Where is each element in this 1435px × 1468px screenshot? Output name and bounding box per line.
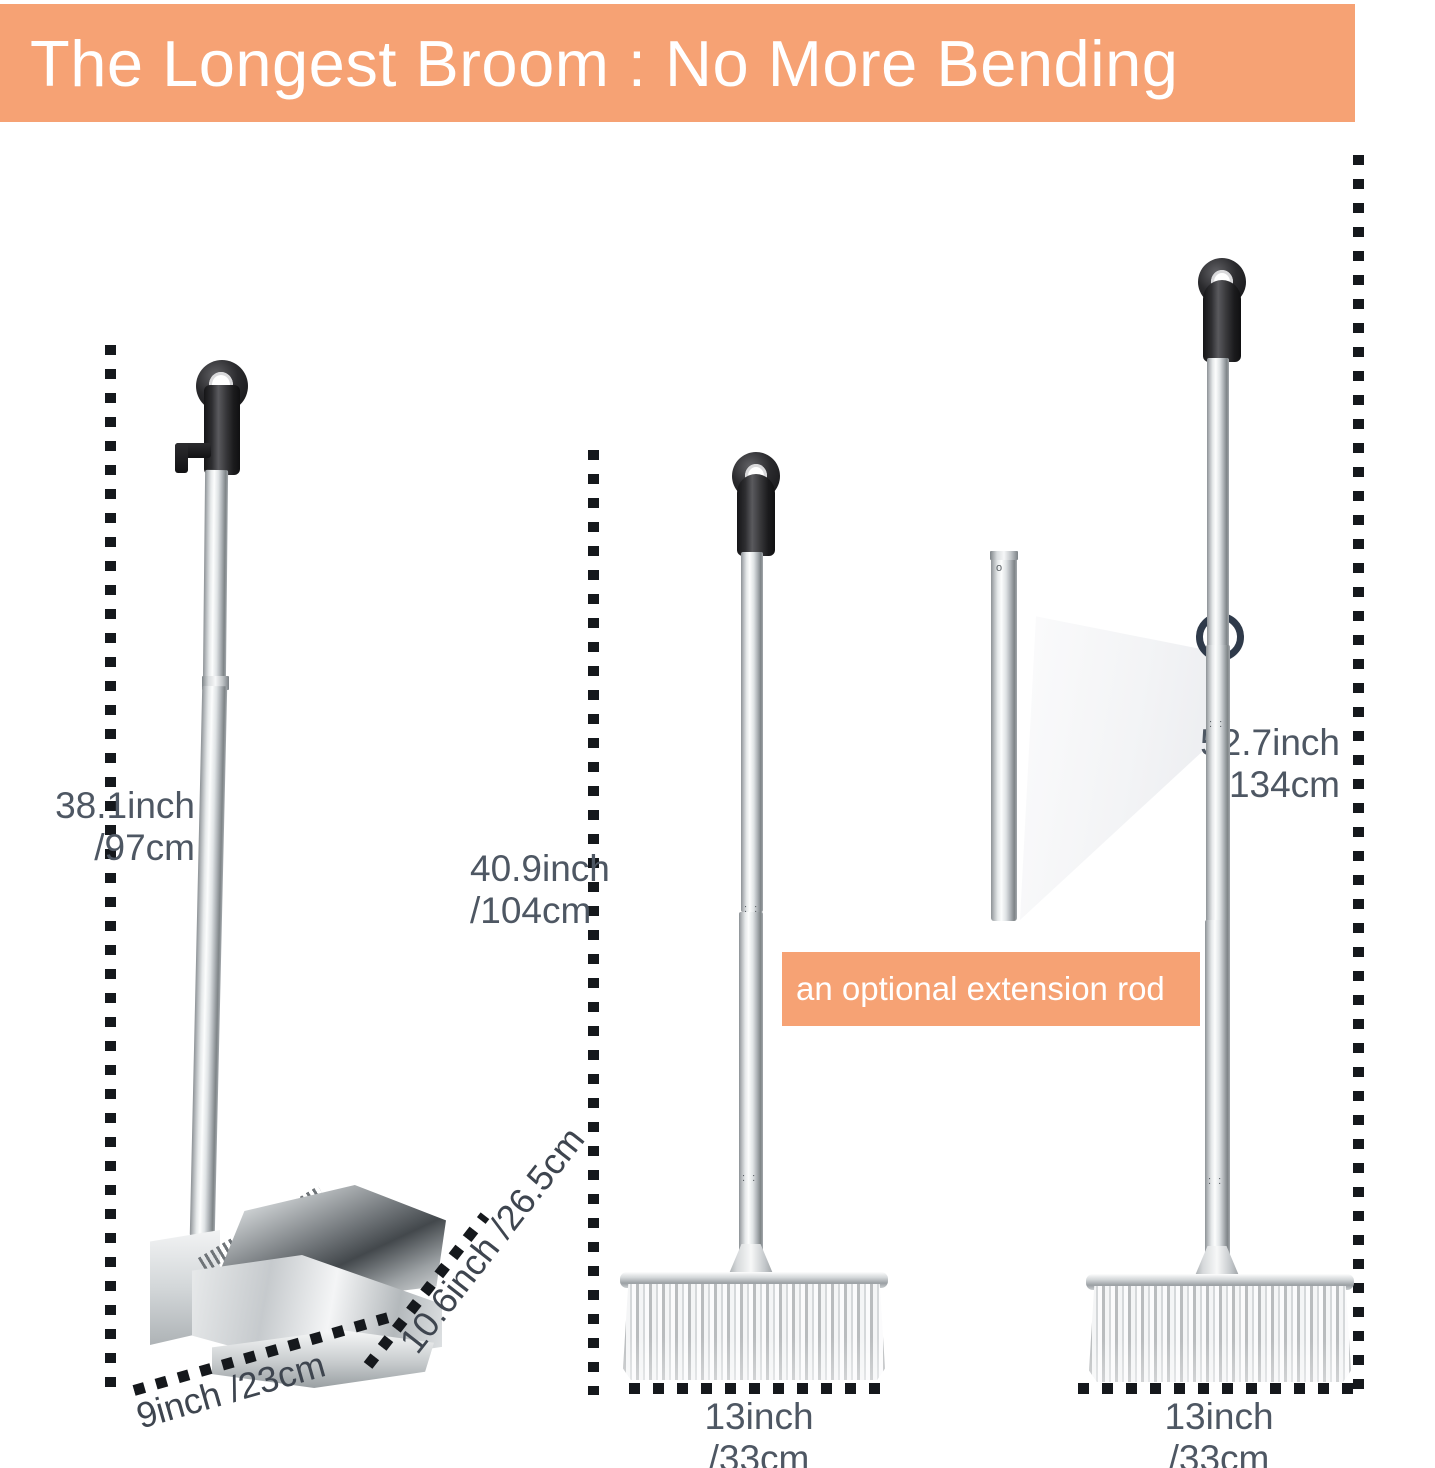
extension-rod-callout-label: an optional extension rod (796, 970, 1165, 1008)
broom-extended-pole-top (1207, 358, 1229, 648)
dustpan-height-value-cm: /97cm (0, 827, 195, 869)
broom-standard-height-label: 40.9inch /104cm (470, 848, 575, 932)
extension-rod-top-collar (990, 551, 1018, 560)
dustpan-height-value-inch: 38.1inch (55, 785, 195, 826)
extension-rod-callout: an optional extension rod (782, 952, 1200, 1026)
dustpan-depth-value-cm: /26.5cm (481, 1119, 592, 1245)
broom-extended-pole-middle (1206, 645, 1230, 923)
extension-rod (991, 551, 1017, 921)
infographic-page: The Longest Broom : No More Bending 38.1… (0, 0, 1435, 1468)
extension-rod-button: o (996, 562, 1004, 574)
broom-extended-height-dimension-line (1353, 155, 1364, 1395)
dustpan-pole-upper (203, 470, 228, 685)
dustpan-handle-grip (204, 385, 240, 475)
broom-extended-width-value-cm: /33cm (1080, 1438, 1358, 1468)
broom-standard-height-value-cm: /104cm (470, 890, 575, 932)
broom-standard-width-value-inch: 13inch (704, 1396, 813, 1437)
dustpan-handle-lever-stem (175, 443, 188, 473)
broom-extended-pole-button-lower: : : (1208, 1175, 1223, 1187)
broom-extended-width-dimension-line (1078, 1383, 1358, 1394)
broom-standard-pole-lower (739, 912, 763, 1257)
broom-extended-bristles (1089, 1286, 1351, 1382)
dustpan-height-label: 38.1inch /97cm (0, 785, 195, 869)
broom-extended-handle-grip (1203, 280, 1241, 362)
broom-standard-width-label: 13inch /33cm (630, 1396, 888, 1468)
broom-standard-width-value-cm: /33cm (630, 1438, 888, 1468)
broom-standard-height-value-inch: 40.9inch (470, 848, 610, 889)
broom-standard-pole-button-lower: : : (742, 1172, 757, 1184)
dustpan-height-dimension-line (105, 345, 116, 1395)
broom-standard-handle-grip (737, 474, 775, 556)
magnifier-beam (1020, 590, 1220, 920)
dustpan-pole-lower (190, 686, 227, 1236)
page-title: The Longest Broom : No More Bending (0, 31, 1178, 96)
header-banner: The Longest Broom : No More Bending (0, 4, 1355, 122)
broom-extended-pole-button-upper: : : (1209, 718, 1224, 730)
broom-extended-width-value-inch: 13inch (1164, 1396, 1273, 1437)
broom-standard-pole-upper (741, 552, 763, 912)
broom-standard-bristles (623, 1284, 885, 1380)
broom-extended-width-label: 13inch /33cm (1080, 1396, 1358, 1468)
broom-standard-width-dimension-line (629, 1383, 887, 1394)
broom-extended-pole-lower (1205, 920, 1230, 1260)
